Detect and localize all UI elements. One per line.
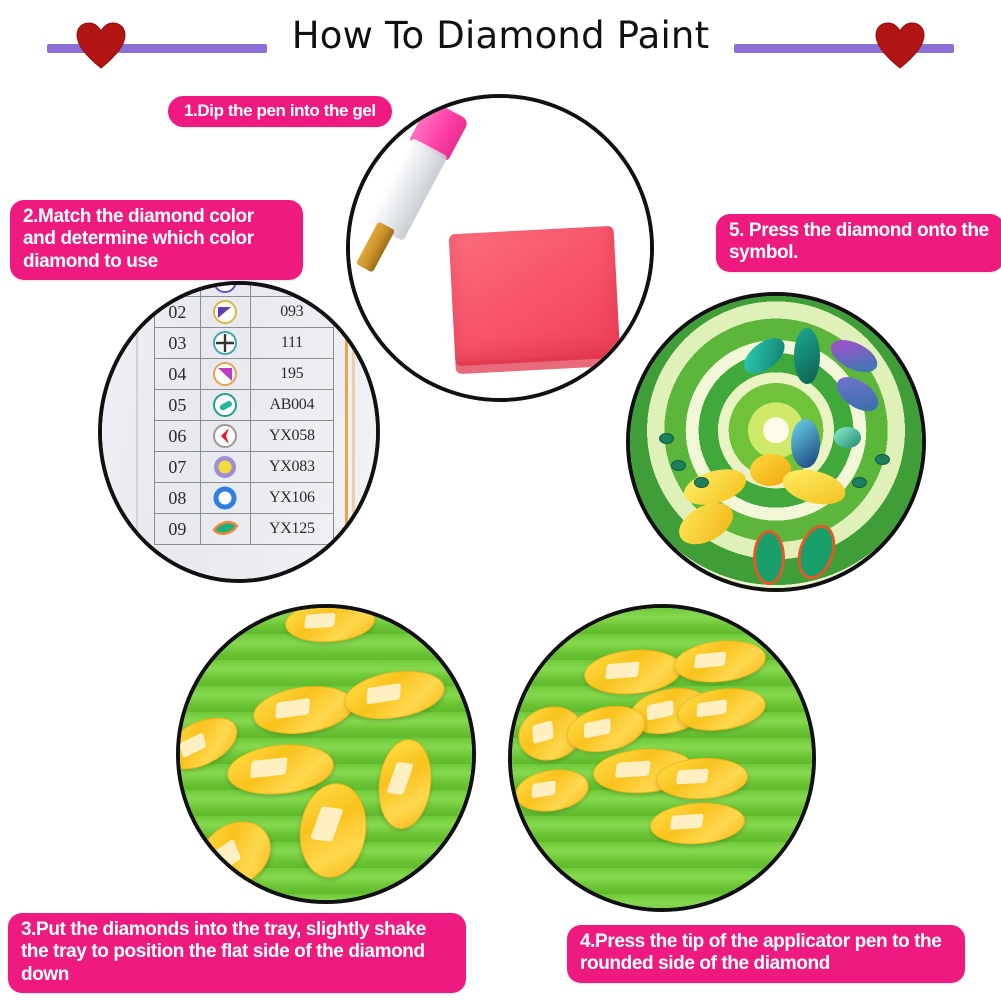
legend-row-code: YX125: [250, 514, 333, 545]
gem-violet-1: [825, 333, 881, 378]
canvas-symbol-dot: [659, 433, 674, 444]
step-5-photo: [626, 292, 926, 592]
paper-orange-edge-2: [352, 285, 355, 579]
step-1-scene: [350, 98, 650, 398]
legend-row-code: YX083: [250, 452, 333, 483]
step-5-scene: [630, 296, 922, 588]
diamond-gem: [250, 680, 357, 739]
step-1-photo: [346, 94, 654, 402]
legend-row: 07YX083: [155, 452, 334, 483]
step-1-label: 1.Dip the pen into the gel: [168, 96, 392, 127]
paper-left-edge: [136, 285, 138, 579]
legend-row: 02093: [155, 297, 334, 328]
gem-green-leaf-2: [792, 520, 843, 584]
diamond-gem: [649, 800, 747, 848]
gem-teal-2: [794, 328, 820, 383]
paper-orange-edge: [345, 285, 348, 579]
pen-barrel: [626, 295, 675, 409]
legend-row-number: 05: [155, 390, 201, 421]
gem-blue-1: [791, 419, 820, 469]
yellow-filled-circle-icon: [200, 452, 250, 483]
canvas-symbol-dot: [875, 454, 890, 465]
legend-row-code: YX058: [250, 421, 333, 452]
diamond-gem: [293, 779, 372, 883]
pen-tip: [356, 221, 395, 272]
triangle-quarter-purple-icon: [200, 297, 250, 328]
legend-row: 05AB004: [155, 390, 334, 421]
step-2-photo: 0102802093031110419505AB00406YX05807YX08…: [98, 281, 380, 583]
page-title: How To Diamond Paint: [0, 14, 1001, 57]
gem-violet-2: [831, 370, 884, 418]
legend-row: 08YX106: [155, 483, 334, 514]
legend-row-code: AB004: [250, 390, 333, 421]
legend-row-number: 06: [155, 421, 201, 452]
diamond-gem: [373, 737, 435, 832]
step-3-photo: [176, 604, 476, 904]
gem-yellow-lower: [672, 495, 740, 553]
step-3-label: 3.Put the diamonds into the tray, slight…: [8, 913, 466, 993]
legend-row-code: 195: [250, 359, 333, 390]
step-2-scene: 0102802093031110419505AB00406YX05807YX08…: [102, 285, 376, 579]
legend-row-number: 03: [155, 328, 201, 359]
diamond-gem: [284, 604, 376, 645]
triangle-quarter-magenta-icon: [200, 359, 250, 390]
gem-teal-1: [738, 331, 791, 380]
step-4-scene: [512, 608, 812, 908]
teal-capsule-icon: [200, 390, 250, 421]
legend-row: 09YX125: [155, 514, 334, 545]
diamond-gem: [512, 764, 592, 816]
step-2-label: 2.Match the diamond color and determine …: [10, 200, 303, 280]
diamond-gem: [341, 665, 448, 726]
legend-row-code: 111: [250, 328, 333, 359]
legend-row: 06YX058: [155, 421, 334, 452]
legend-row-code: 028: [250, 281, 333, 297]
legend-row-number: 07: [155, 452, 201, 483]
legend-row-number: 01: [155, 281, 201, 297]
gem-yellow-right: [779, 464, 849, 511]
step-5-label: 5. Press the diamond onto the symbol.: [716, 214, 1001, 272]
legend-row: 01028: [155, 281, 334, 297]
step-4-label: 4.Press the tip of the applicator pen to…: [567, 925, 965, 983]
legend-row: 04195: [155, 359, 334, 390]
step-4-photo: [508, 604, 816, 912]
diamond-gem: [187, 808, 283, 900]
gem-teal-3: [834, 427, 860, 447]
pink-gel-pad: [449, 226, 621, 366]
legend-row-number: 02: [155, 297, 201, 328]
legend-row-number: 04: [155, 359, 201, 390]
legend-row-number: 09: [155, 514, 201, 545]
step-3-scene: [180, 608, 472, 900]
circle-two-dots-icon: [200, 281, 250, 297]
canvas-symbol-dot: [671, 460, 686, 471]
canvas-symbol-dot: [852, 477, 867, 488]
legend-row-code: 093: [250, 297, 333, 328]
gem-green-leaf-1: [753, 530, 785, 586]
legend-row-code: YX106: [250, 483, 333, 514]
page-header: How To Diamond Paint: [0, 0, 1001, 78]
legend-row: 03111: [155, 328, 334, 359]
blue-ring-icon: [200, 483, 250, 514]
applicator-pen-icon: [626, 292, 690, 455]
green-leaf-icon: [200, 514, 250, 545]
diamond-gem: [672, 636, 768, 686]
legend-row-number: 08: [155, 483, 201, 514]
plus-cross-icon: [200, 328, 250, 359]
red-left-arrow-icon: [200, 421, 250, 452]
symbol-legend-table: 0102802093031110419505AB00406YX05807YX08…: [154, 281, 334, 545]
